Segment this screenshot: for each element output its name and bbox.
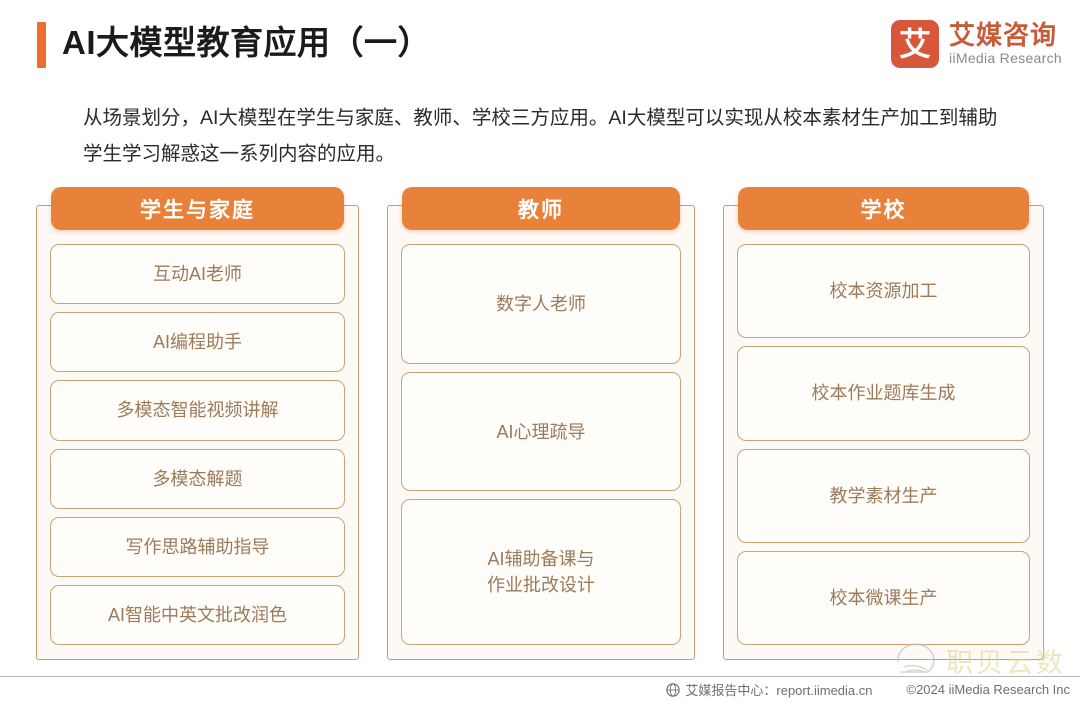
column-students-family: 学生与家庭 互动AI老师 AI编程助手 多模态智能视频讲解 多模态解题 写作思路…	[36, 205, 359, 660]
application-card[interactable]: 多模态智能视频讲解	[50, 380, 345, 440]
column-teacher: 教师 数字人老师 AI心理疏导 AI辅助备课与 作业批改设计	[387, 205, 695, 660]
column-items-students-family: 互动AI老师 AI编程助手 多模态智能视频讲解 多模态解题 写作思路辅助指导 A…	[50, 244, 345, 645]
column-items-school: 校本资源加工 校本作业题库生成 教学素材生产 校本微课生产	[737, 244, 1030, 645]
brand-logo: 艾 艾媒咨询 iiMedia Research	[891, 20, 1062, 68]
application-columns: 学生与家庭 互动AI老师 AI编程助手 多模态智能视频讲解 多模态解题 写作思路…	[36, 205, 1044, 660]
page-footer: 艾媒报告中心：report.iimedia.cn ©2024 iiMedia R…	[0, 676, 1080, 702]
logo-mark-icon: 艾	[891, 20, 939, 68]
column-header-teacher: 教师	[402, 187, 680, 230]
globe-icon	[666, 683, 680, 697]
application-card[interactable]: 互动AI老师	[50, 244, 345, 304]
application-card[interactable]: 写作思路辅助指导	[50, 517, 345, 577]
application-card[interactable]: 数字人老师	[401, 244, 681, 364]
application-card[interactable]: AI智能中英文批改润色	[50, 585, 345, 645]
page-header: AI大模型教育应用（一） 艾 艾媒咨询 iiMedia Research	[0, 0, 1080, 90]
application-card[interactable]: 多模态解题	[50, 449, 345, 509]
application-card[interactable]: AI心理疏导	[401, 372, 681, 492]
application-card[interactable]: 校本作业题库生成	[737, 346, 1030, 440]
intro-paragraph: 从场景划分，AI大模型在学生与家庭、教师、学校三方应用。AI大模型可以实现从校本…	[83, 100, 1013, 172]
application-card[interactable]: 校本微课生产	[737, 551, 1030, 645]
page-title: AI大模型教育应用（一）	[62, 22, 431, 64]
column-header-students-family: 学生与家庭	[51, 187, 344, 230]
application-card[interactable]: 教学素材生产	[737, 449, 1030, 543]
logo-mark-char: 艾	[899, 28, 931, 60]
footer-copyright: ©2024 iiMedia Research Inc	[907, 682, 1071, 697]
application-card[interactable]: AI辅助备课与 作业批改设计	[401, 499, 681, 645]
logo-text-group: 艾媒咨询 iiMedia Research	[949, 21, 1062, 67]
column-school: 学校 校本资源加工 校本作业题库生成 教学素材生产 校本微课生产	[723, 205, 1044, 660]
column-header-school: 学校	[738, 187, 1029, 230]
page-title-group: AI大模型教育应用（一）	[37, 22, 431, 68]
logo-name-cn: 艾媒咨询	[949, 21, 1062, 49]
column-items-teacher: 数字人老师 AI心理疏导 AI辅助备课与 作业批改设计	[401, 244, 681, 645]
application-card[interactable]: AI编程助手	[50, 312, 345, 372]
title-accent-bar	[37, 22, 46, 68]
logo-name-en: iiMedia Research	[949, 50, 1062, 67]
application-card[interactable]: 校本资源加工	[737, 244, 1030, 338]
footer-content: 艾媒报告中心：report.iimedia.cn ©2024 iiMedia R…	[666, 680, 1070, 699]
footer-report-link[interactable]: 艾媒报告中心：report.iimedia.cn	[685, 680, 872, 699]
